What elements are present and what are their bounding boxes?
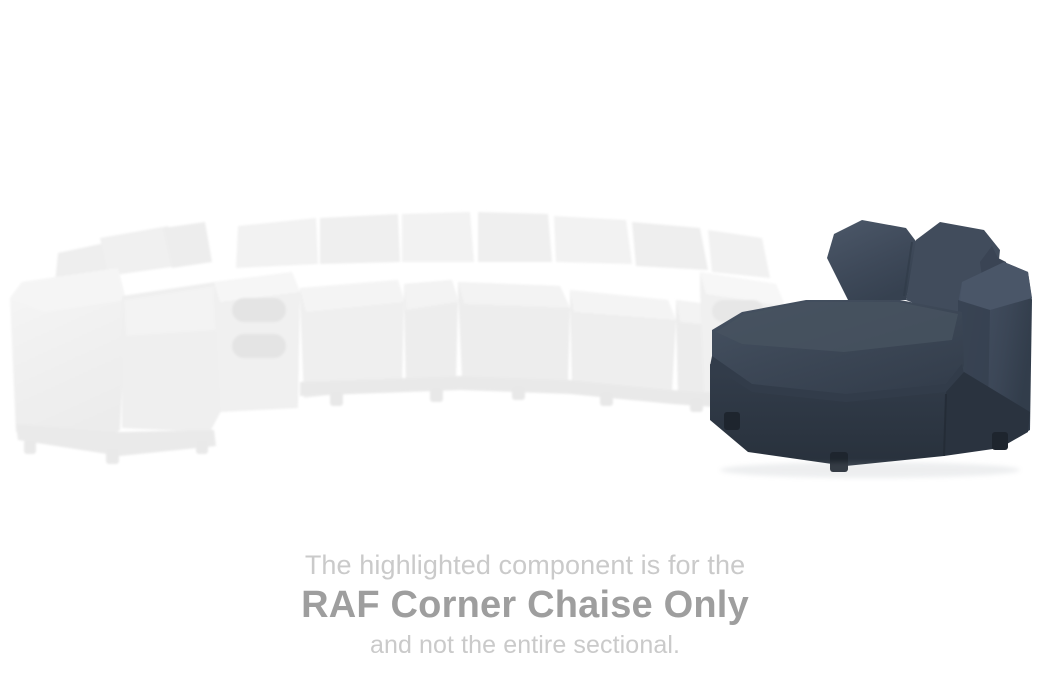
chaise-foot-right [992, 432, 1008, 450]
product-illustration [0, 0, 1050, 520]
caption-tail-line: and not the entire sectional. [0, 629, 1050, 661]
sectional-diagram [0, 0, 1050, 520]
caption-lead-line: The highlighted component is for the [0, 548, 1050, 582]
callout-caption: The highlighted component is for the RAF… [0, 548, 1050, 661]
ghost-sectional [10, 212, 784, 464]
ghost-back-cushions-left-run [236, 212, 474, 268]
screenshot-canvas: The highlighted component is for the RAF… [0, 0, 1050, 700]
ghost-laf-loveseat [10, 222, 232, 464]
chaise-contact-shadow [720, 462, 1020, 478]
chaise-foot-front-left [724, 412, 740, 430]
caption-emphasis-line: RAF Corner Chaise Only [0, 582, 1050, 629]
ghost-console-left [214, 272, 300, 412]
